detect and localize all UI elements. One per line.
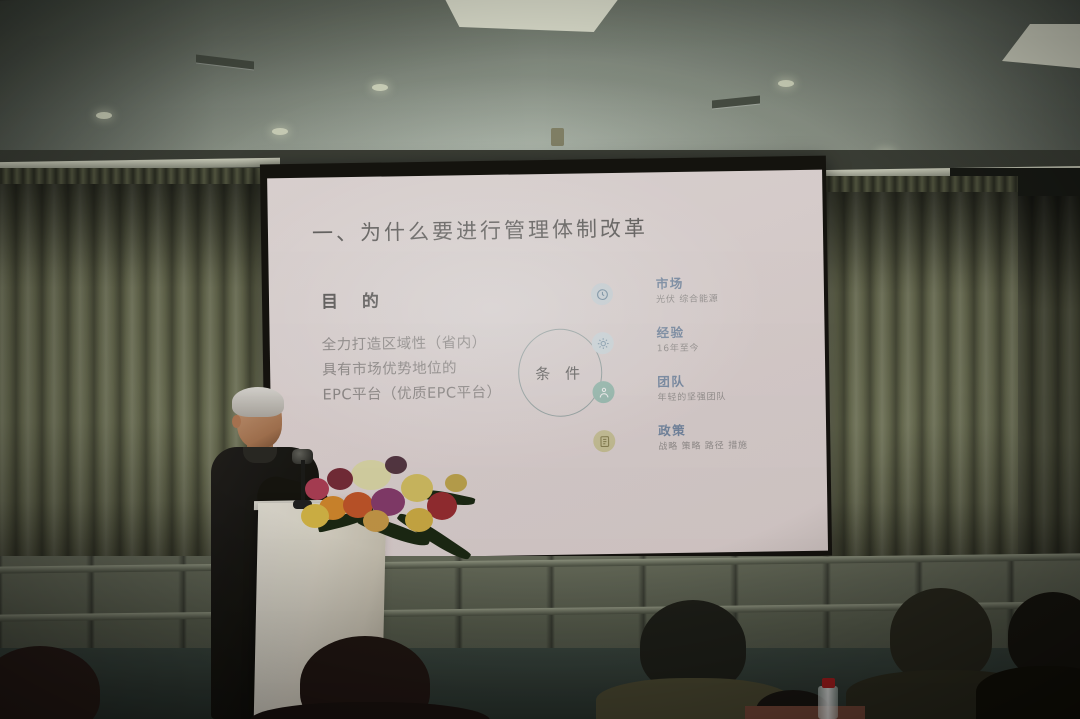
slide-item-title: 市场 (656, 273, 684, 292)
purpose-body: 全力打造区域性（省内） 具有市场优势地位的 EPC平台（优质EPC平台） (322, 331, 502, 409)
flower-dark-red (327, 468, 353, 490)
person-icon (592, 381, 614, 403)
audience-shoulders (976, 666, 1080, 719)
condition-circle: 条 件 (518, 328, 603, 417)
flower-dark (385, 456, 407, 474)
water-bottle (818, 686, 838, 719)
purpose-line: 全力打造区域性（省内） (322, 331, 501, 359)
slide-item-title: 经验 (656, 322, 684, 341)
flower-gold (363, 510, 389, 532)
flower-small (445, 474, 467, 492)
slide-item-title: 政策 (658, 420, 686, 439)
downlight-icon (272, 128, 288, 135)
clock-icon (591, 283, 613, 305)
purpose-heading: 目 的 (321, 286, 388, 312)
slide-item-team: 团队 年轻的坚强团队 (592, 366, 803, 418)
flower-yellow (405, 508, 433, 532)
audience-table (745, 706, 865, 719)
slide-item-title: 团队 (657, 371, 685, 390)
flower-yellow (301, 504, 329, 528)
purpose-line: EPC平台（优质EPC平台） (322, 381, 501, 409)
slide-item-subtitle: 年轻的坚强团队 (657, 389, 726, 403)
slide-item-subtitle: 光伏 综合能源 (656, 291, 719, 305)
condition-circle-label: 条 件 (535, 362, 585, 384)
slide-item-experience: 经验 16年至今 (591, 317, 802, 369)
purpose-line: 具有市场优势地位的 (322, 356, 501, 384)
gear-icon (592, 332, 614, 354)
audience-head (890, 588, 992, 682)
curtain-right-header (818, 176, 1018, 192)
water-bottle-cap (822, 678, 835, 688)
speaker-hair (232, 387, 284, 417)
floral-arrangement (305, 452, 475, 570)
downlight-icon (778, 80, 794, 87)
slide-item-policy: 政策 战略 策略 路径 措施 (593, 415, 804, 467)
slide-item-market: 市场 光伏 综合能源 (591, 268, 802, 320)
speaker-ear (232, 415, 241, 428)
slide-title: 一、为什么要进行管理体制改革 (312, 212, 648, 247)
curtain-left-header (0, 168, 268, 184)
ceiling-speaker (551, 128, 564, 146)
photo-scene: 一、为什么要进行管理体制改革 目 的 全力打造区域性（省内） 具有市场优势地位的… (0, 0, 1080, 719)
slide-item-list: 市场 光伏 综合能源 经验 16年至今 (591, 268, 804, 467)
downlight-icon (372, 84, 388, 91)
document-icon (593, 430, 615, 452)
slide-item-subtitle: 战略 策略 路径 措施 (658, 438, 748, 452)
speaker-collar (243, 447, 277, 463)
downlight-icon (96, 112, 112, 119)
slide-item-subtitle: 16年至今 (657, 341, 700, 355)
